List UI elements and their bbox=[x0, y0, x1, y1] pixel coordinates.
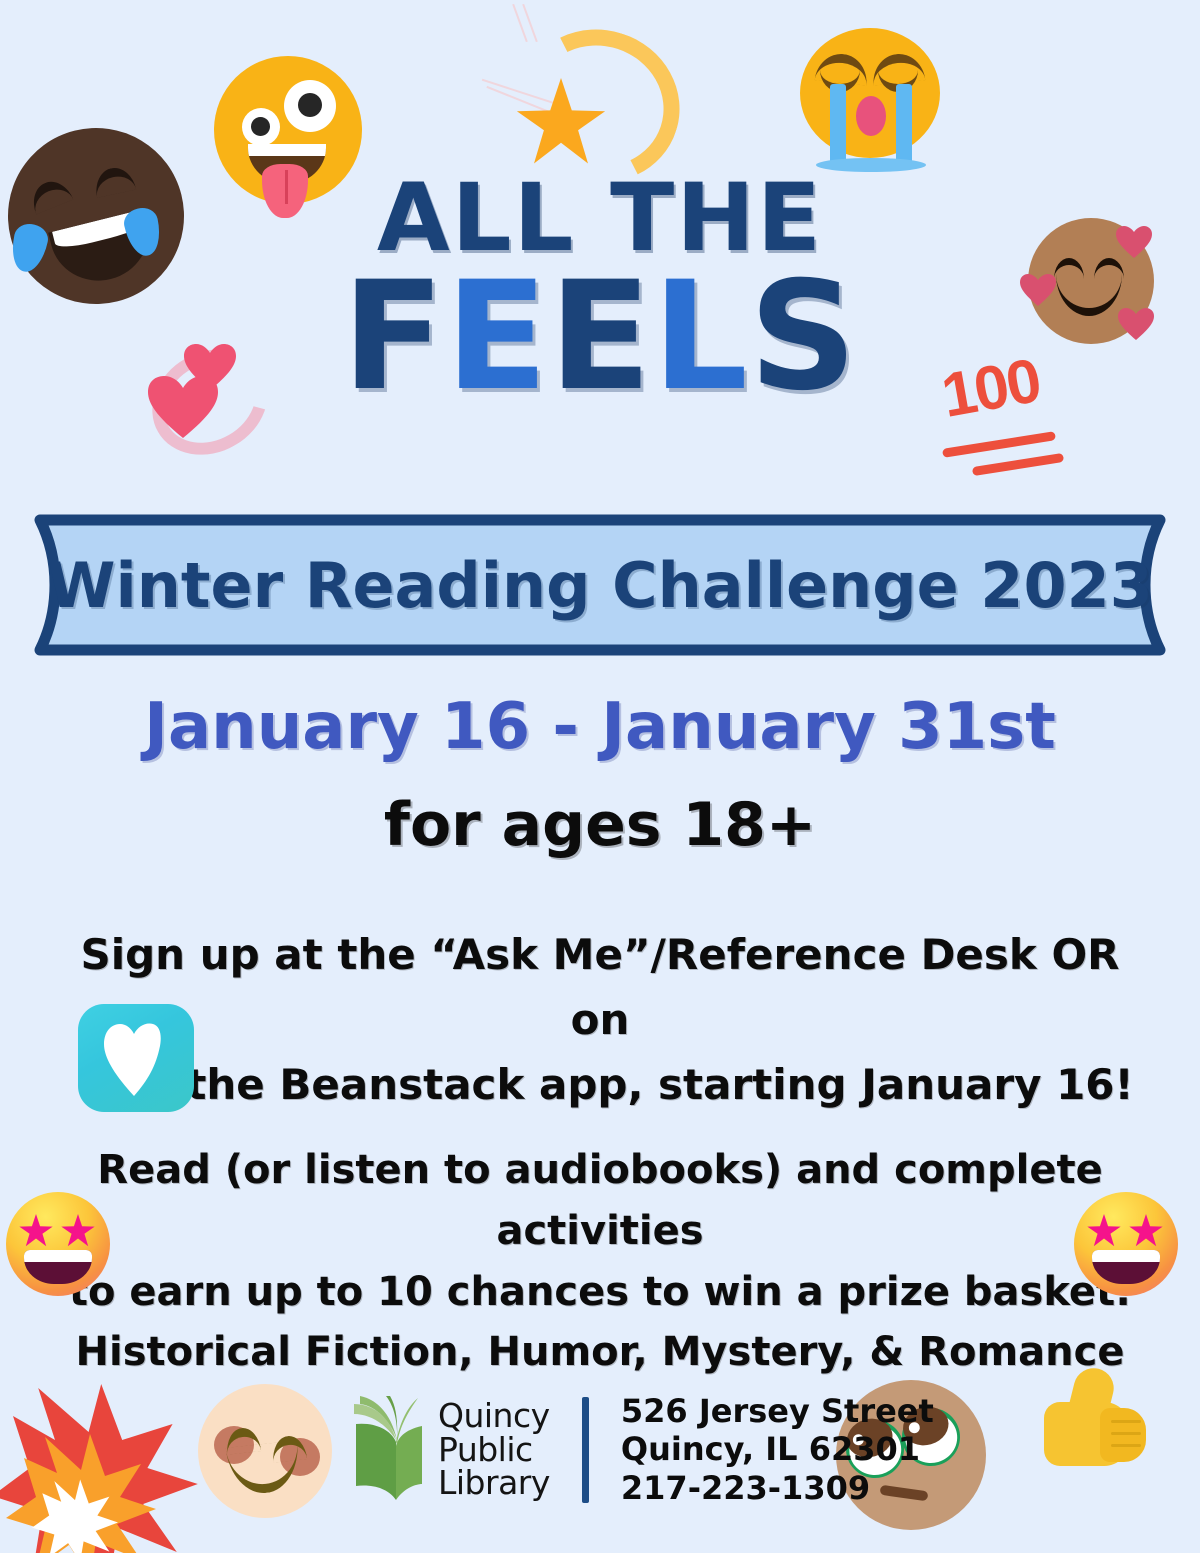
loudly-crying-face-emoji bbox=[800, 28, 940, 178]
title-letter-f: F bbox=[342, 250, 445, 424]
reading-line-1: Read (or listen to audiobooks) and compl… bbox=[60, 1140, 1140, 1262]
beanstack-bean-glyph bbox=[104, 1022, 162, 1096]
signup-line-2: the Beanstack app, starting January 16! bbox=[50, 1052, 1150, 1117]
thumbs-up-emoji bbox=[1038, 1368, 1158, 1488]
banner-label: Winter Reading Challenge 2023 bbox=[34, 514, 1166, 656]
signup-instructions: Sign up at the “Ask Me”/Reference Desk O… bbox=[50, 922, 1150, 1117]
date-range: January 16 - January 31st bbox=[0, 690, 1200, 764]
address-city-state-zip: Quincy, IL 62301 bbox=[621, 1430, 934, 1468]
logo-word-public: Public bbox=[438, 1433, 550, 1467]
library-address: 526 Jersey Street Quincy, IL 62301 217-2… bbox=[621, 1392, 934, 1507]
address-phone: 217-223-1309 bbox=[621, 1469, 934, 1507]
library-name: Quincy Public Library bbox=[438, 1399, 550, 1500]
poster-canvas: 100 ALL THE FEELS Winter Reading Challen… bbox=[0, 0, 1200, 1553]
poster-title: ALL THE FEELS bbox=[0, 176, 1200, 406]
reading-instructions: Read (or listen to audiobooks) and compl… bbox=[60, 1140, 1140, 1383]
title-letter-l: L bbox=[652, 250, 749, 424]
open-book-leaf-icon bbox=[352, 1396, 426, 1504]
library-footer: Quincy Public Library 526 Jersey Street … bbox=[352, 1392, 934, 1507]
signup-line-1: Sign up at the “Ask Me”/Reference Desk O… bbox=[80, 930, 1119, 1044]
logo-mark-svg bbox=[352, 1396, 426, 1504]
challenge-banner: Winter Reading Challenge 2023 bbox=[34, 514, 1166, 656]
reading-line-2: to earn up to 10 chances to win a prize … bbox=[60, 1262, 1140, 1323]
quincy-public-library-logo: Quincy Public Library bbox=[352, 1396, 550, 1504]
collision-emoji bbox=[0, 1380, 212, 1553]
smiling-face-with-blush-emoji bbox=[198, 1384, 332, 1518]
footer-divider bbox=[582, 1397, 589, 1503]
beanstack-app-icon bbox=[78, 1004, 194, 1112]
address-street: 526 Jersey Street bbox=[621, 1392, 934, 1430]
logo-word-quincy: Quincy bbox=[438, 1399, 550, 1433]
title-letter-e2: E bbox=[549, 250, 652, 424]
title-letter-s: S bbox=[749, 250, 858, 424]
reading-line-3: Historical Fiction, Humor, Mystery, & Ro… bbox=[60, 1322, 1140, 1383]
title-line-2: FEELS bbox=[0, 268, 1200, 406]
title-letter-e1: E bbox=[445, 250, 548, 424]
dizzy-star-emoji bbox=[470, 20, 670, 180]
logo-word-library: Library bbox=[438, 1466, 550, 1500]
age-requirement: for ages 18+ bbox=[0, 790, 1200, 860]
